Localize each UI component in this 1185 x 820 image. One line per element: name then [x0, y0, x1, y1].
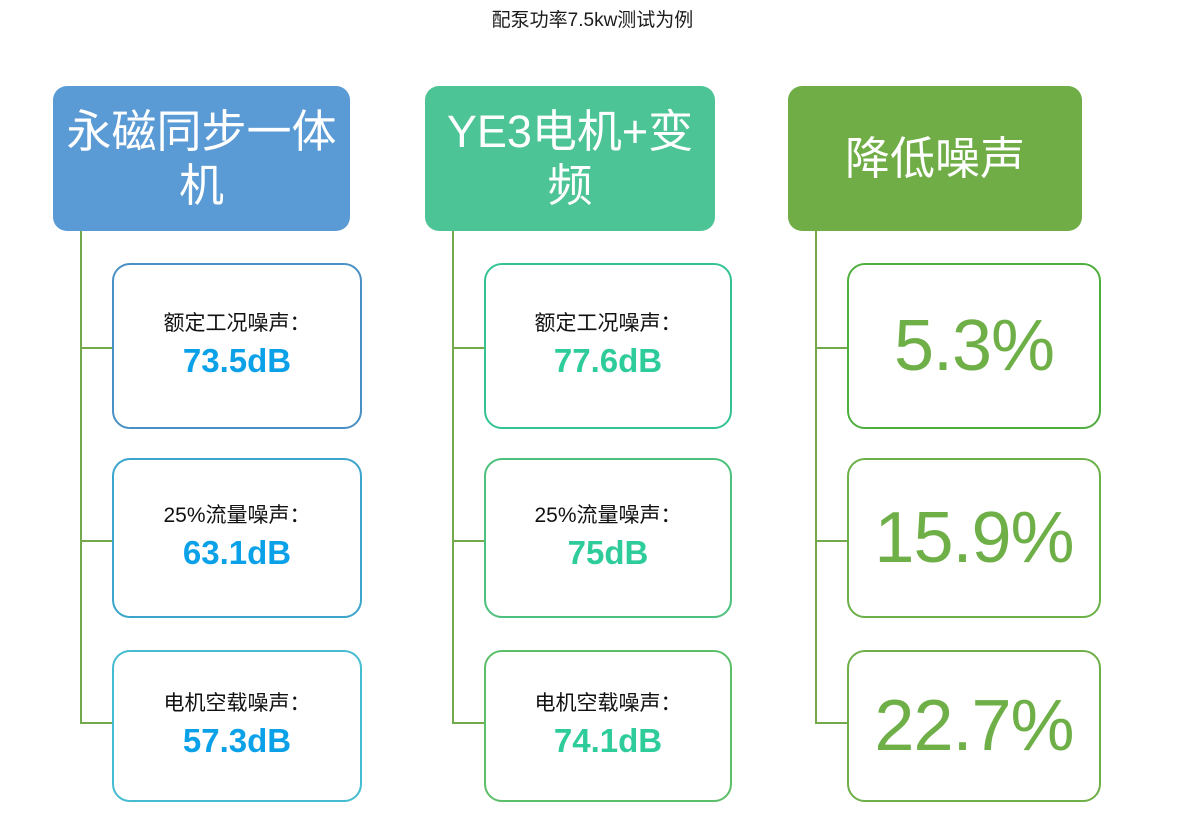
column-header-noise-reduction[interactable]: 降低噪声: [788, 86, 1082, 231]
metric-value: 75dB: [568, 532, 649, 574]
metric-card-pmsm-25flow[interactable]: 25%流量噪声： 63.1dB: [112, 458, 362, 618]
metric-value: 73.5dB: [183, 340, 291, 382]
metric-label: 25%流量噪声：: [163, 502, 310, 530]
connector-branch-col-1-row-2: [452, 722, 484, 724]
reduction-card-rated[interactable]: 5.3%: [847, 263, 1101, 429]
metric-card-ye3-25flow[interactable]: 25%流量噪声： 75dB: [484, 458, 732, 618]
connector-trunk-col-0: [80, 231, 82, 723]
reduction-value: 5.3%: [894, 306, 1054, 386]
page-title: 配泵功率7.5kw测试为例: [0, 8, 1185, 34]
metric-value: 77.6dB: [554, 340, 662, 382]
metric-label: 额定工况噪声：: [535, 310, 682, 338]
connector-branch-col-2-row-0: [815, 347, 847, 349]
connector-branch-col-0-row-1: [80, 540, 112, 542]
metric-label: 额定工况噪声：: [164, 310, 311, 338]
connector-branch-col-0-row-2: [80, 722, 112, 724]
reduction-card-noload[interactable]: 22.7%: [847, 650, 1101, 802]
reduction-value: 15.9%: [874, 498, 1073, 578]
metric-label: 电机空载噪声：: [535, 690, 682, 718]
metric-card-pmsm-rated[interactable]: 额定工况噪声： 73.5dB: [112, 263, 362, 429]
connector-branch-col-0-row-0: [80, 347, 112, 349]
connector-trunk-col-1: [452, 231, 454, 723]
reduction-value: 22.7%: [874, 686, 1073, 766]
metric-value: 74.1dB: [554, 720, 662, 762]
column-header-pmsm[interactable]: 永磁同步一体机: [53, 86, 350, 231]
connector-trunk-col-2: [815, 231, 817, 723]
reduction-card-25flow[interactable]: 15.9%: [847, 458, 1101, 618]
connector-branch-col-2-row-1: [815, 540, 847, 542]
metric-label: 电机空载噪声：: [164, 690, 311, 718]
metric-card-ye3-rated[interactable]: 额定工况噪声： 77.6dB: [484, 263, 732, 429]
metric-card-ye3-noload[interactable]: 电机空载噪声： 74.1dB: [484, 650, 732, 802]
column-header-ye3-vfd[interactable]: YE3电机+变频: [425, 86, 715, 231]
connector-branch-col-1-row-1: [452, 540, 484, 542]
metric-value: 57.3dB: [183, 720, 291, 762]
metric-card-pmsm-noload[interactable]: 电机空载噪声： 57.3dB: [112, 650, 362, 802]
metric-value: 63.1dB: [183, 532, 291, 574]
metric-label: 25%流量噪声：: [534, 502, 681, 530]
connector-branch-col-2-row-2: [815, 722, 847, 724]
connector-branch-col-1-row-0: [452, 347, 484, 349]
